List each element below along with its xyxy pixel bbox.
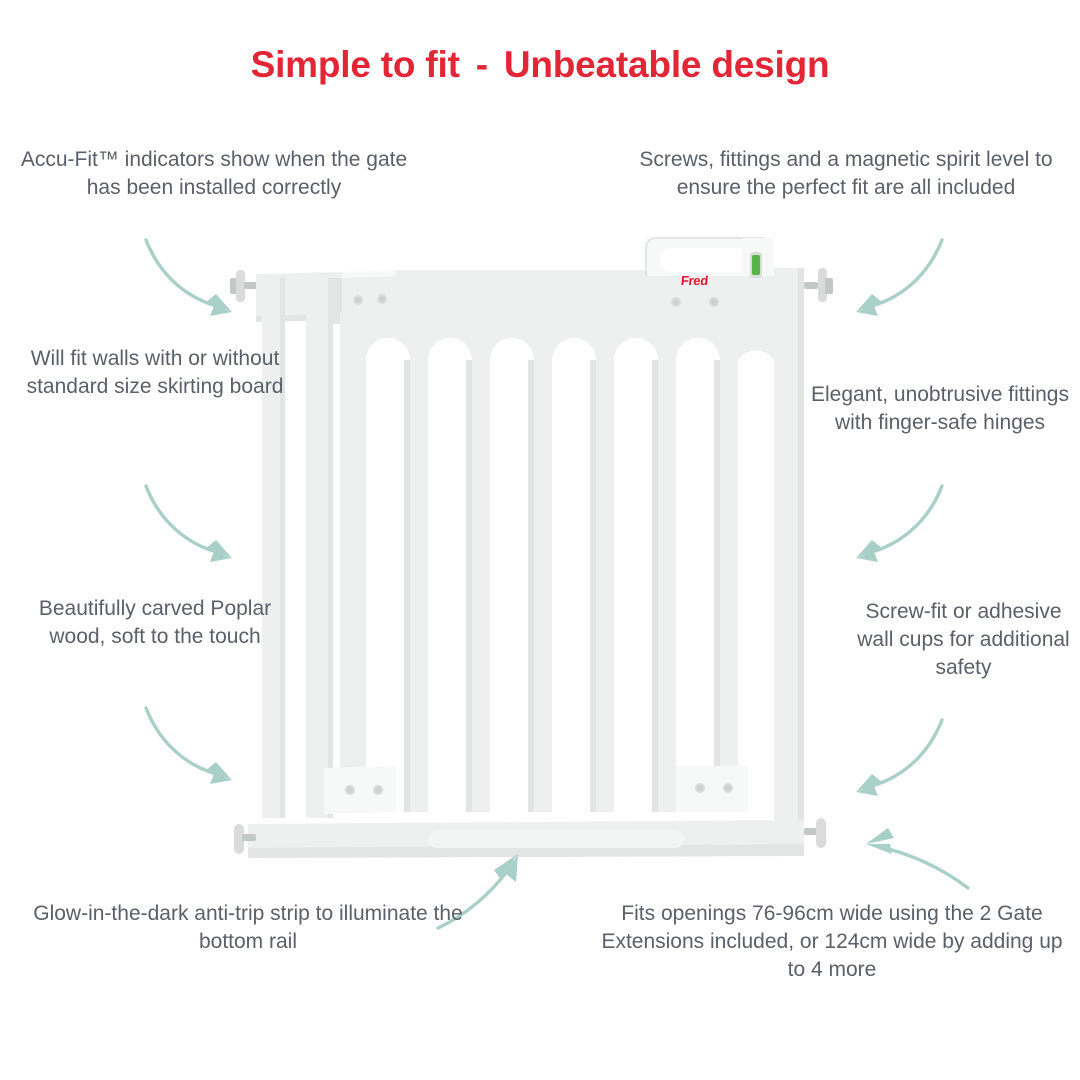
brand-logo: Fred xyxy=(680,273,709,288)
infographic-canvas: Simple to fit-Unbeatable design xyxy=(0,0,1080,1080)
callout-wall-cups: Screw-fit or adhesive wall cups for addi… xyxy=(856,598,1071,682)
title-right: Unbeatable design xyxy=(504,44,830,85)
pointer-arrow-screws-fittings xyxy=(838,232,948,324)
wall-cup-fitting xyxy=(804,818,826,848)
pointer-arrow-elegant-fittings xyxy=(838,478,948,570)
hinge-bracket xyxy=(324,766,396,814)
callout-accu-fit: Accu-Fit™ indicators show when the gate … xyxy=(8,146,420,202)
title-separator: - xyxy=(460,44,504,86)
callout-elegant-fittings: Elegant, unobtrusive fittings with finge… xyxy=(810,381,1070,437)
callout-screws-fittings: Screws, fittings and a magnetic spirit l… xyxy=(636,146,1056,202)
page-title: Simple to fit-Unbeatable design xyxy=(0,44,1080,86)
wall-cup-fitting xyxy=(230,270,258,302)
bottom-rail xyxy=(248,820,804,858)
callout-poplar-wood: Beautifully carved Poplar wood, soft to … xyxy=(22,595,288,651)
wall-cup-fitting xyxy=(804,268,833,302)
callout-fits-openings: Fits openings 76-96cm wide using the 2 G… xyxy=(596,900,1068,984)
hinge-bracket xyxy=(676,766,748,812)
pointer-arrow-wall-cups xyxy=(838,712,948,804)
callout-skirting-board: Will fit walls with or without standard … xyxy=(20,345,290,401)
title-left: Simple to fit xyxy=(251,44,460,85)
gate-bars xyxy=(262,278,774,818)
product-image-safety-gate xyxy=(214,232,854,862)
pointer-arrow-fits-openings xyxy=(840,808,976,894)
anti-trip-strip xyxy=(428,830,684,848)
callout-anti-trip-strip: Glow-in-the-dark anti-trip strip to illu… xyxy=(28,900,468,956)
